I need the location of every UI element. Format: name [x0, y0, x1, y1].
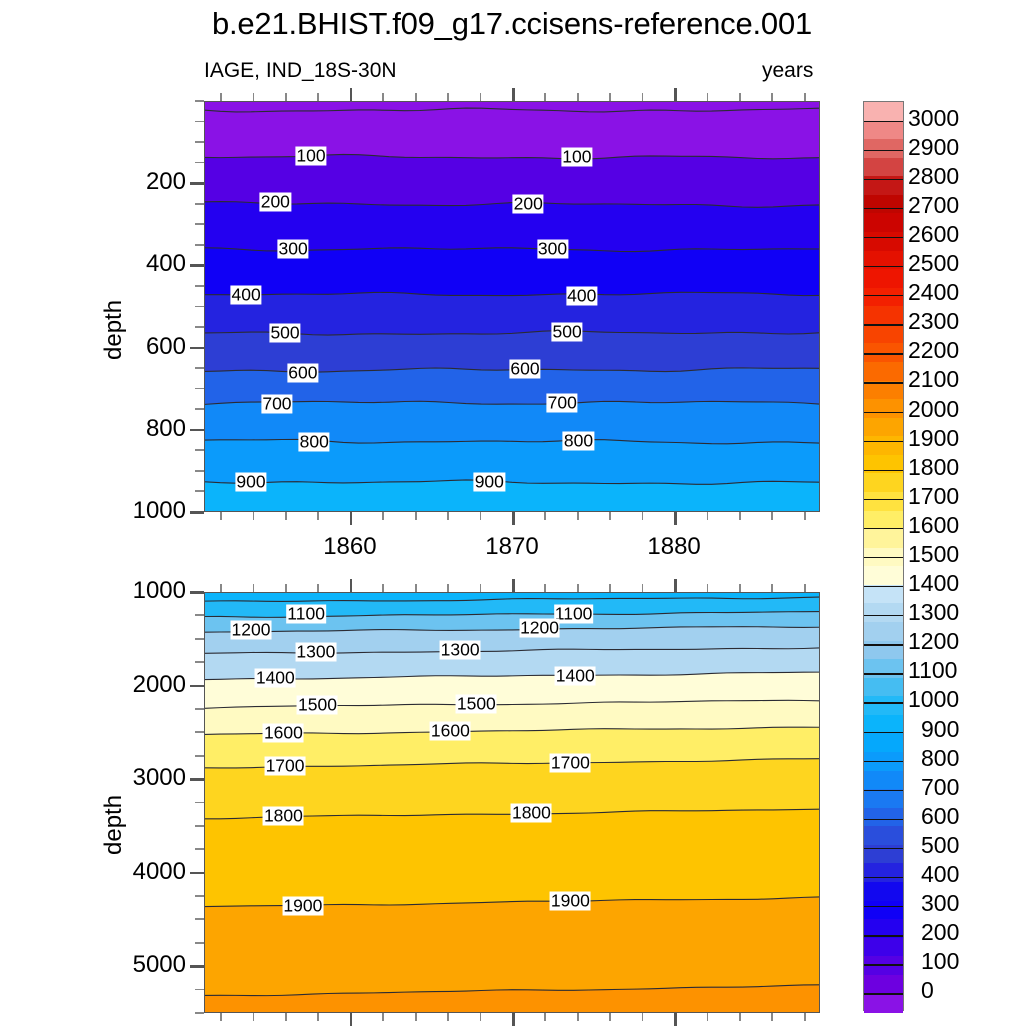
y-axis-major-tick — [190, 347, 204, 350]
x-axis-minor-tick — [642, 584, 644, 592]
colorbar-band — [864, 659, 903, 678]
contour-label: 200 — [260, 192, 291, 211]
x-axis-minor-tick — [480, 93, 482, 101]
y-axis-minor-tick — [195, 388, 204, 390]
x-axis-minor-tick — [577, 1013, 579, 1021]
contour-label: 1400 — [555, 666, 596, 685]
colorbar-band — [864, 436, 903, 455]
colorbar-band — [864, 956, 903, 975]
y-axis-minor-tick — [195, 162, 204, 164]
colorbar-label: 500 — [921, 832, 1024, 859]
x-axis-minor-tick — [707, 512, 709, 520]
contour-label: 1600 — [430, 722, 471, 741]
x-axis-minor-tick — [447, 93, 449, 101]
contour-label: 1600 — [263, 724, 304, 743]
x-axis-minor-tick — [285, 512, 287, 520]
contour-label: 700 — [261, 395, 292, 414]
x-axis-major-tick — [674, 512, 677, 525]
colorbar-label: 1100 — [908, 657, 1018, 684]
colorbar-band — [864, 362, 903, 381]
colorbar-label: 1500 — [908, 541, 1018, 568]
colorbar-tick — [864, 586, 903, 587]
colorbar-band — [864, 269, 903, 288]
x-axis-major-tick — [350, 579, 353, 592]
x-axis-minor-tick — [220, 93, 222, 101]
colorbar-label: 1600 — [908, 512, 1018, 539]
colorbar-label: 200 — [921, 919, 1024, 946]
y-axis-tick-label: 400 — [34, 250, 186, 278]
colorbar-band — [864, 325, 903, 344]
y-axis-minor-tick — [195, 285, 204, 287]
y-axis-major-tick — [190, 685, 204, 688]
x-axis-minor-tick — [220, 584, 222, 592]
x-axis-minor-tick — [285, 584, 287, 592]
contour-label: 1500 — [297, 695, 338, 714]
colorbar-label: 1200 — [908, 628, 1018, 655]
x-axis-minor-tick — [544, 93, 546, 101]
colorbar-label: 300 — [921, 890, 1024, 917]
colorbar-band — [864, 492, 903, 511]
x-axis-minor-tick — [220, 1013, 222, 1021]
x-axis-minor-tick — [415, 1013, 417, 1021]
contour-label: 1300 — [295, 642, 336, 661]
colorbar-band — [864, 473, 903, 492]
colorbar-label: 0 — [921, 977, 1024, 1004]
colorbar-label: 900 — [921, 716, 1024, 743]
y-axis-minor-tick — [195, 244, 204, 246]
x-axis-minor-tick — [480, 1013, 482, 1021]
y-axis-major-tick — [190, 511, 204, 514]
x-axis-minor-tick — [480, 584, 482, 592]
x-axis-minor-tick — [577, 512, 579, 520]
x-axis-minor-tick — [544, 1013, 546, 1021]
y-axis-minor-tick — [195, 989, 204, 991]
x-axis-minor-tick — [544, 584, 546, 592]
colorbar-label: 2000 — [908, 396, 1018, 423]
colorbar-band — [864, 102, 903, 121]
contour-label: 1700 — [550, 753, 591, 772]
x-axis-minor-tick — [577, 584, 579, 592]
y-axis-tick-label: 800 — [34, 415, 186, 443]
colorbar-tick — [864, 150, 903, 151]
contour-label: 400 — [566, 286, 597, 305]
colorbar-tick — [864, 121, 903, 122]
contour-label: 1200 — [519, 619, 560, 638]
colorbar-tick — [864, 964, 903, 965]
colorbar-tick — [864, 993, 903, 994]
x-axis-minor-tick — [544, 512, 546, 520]
colorbar-label: 800 — [921, 745, 1024, 772]
contour-label: 400 — [231, 286, 262, 305]
y-axis-tick-label: 1000 — [34, 497, 186, 525]
colorbar-tick — [864, 353, 903, 354]
contour-label: 1700 — [265, 757, 306, 776]
x-axis-minor-tick — [253, 1013, 255, 1021]
colorbar-band — [864, 678, 903, 697]
x-axis-minor-tick — [285, 93, 287, 101]
x-axis-minor-tick — [447, 584, 449, 592]
y-axis-minor-tick — [195, 708, 204, 710]
colorbar-label: 2300 — [908, 308, 1018, 335]
x-axis-minor-tick — [707, 584, 709, 592]
x-axis-minor-tick — [382, 584, 384, 592]
colorbar-tick — [864, 324, 903, 325]
contour-label: 1900 — [550, 892, 591, 911]
colorbar-band — [864, 696, 903, 715]
colorbar-tick — [864, 208, 903, 209]
colorbar-label: 1400 — [908, 570, 1018, 597]
x-axis-minor-tick — [609, 584, 611, 592]
colorbar-tick — [864, 237, 903, 238]
x-axis-tick-label: 1870 — [452, 533, 572, 561]
y-axis-minor-tick — [195, 1012, 204, 1014]
colorbar-tick — [864, 266, 903, 267]
colorbar-band — [864, 733, 903, 752]
y-axis-major-tick — [190, 965, 204, 968]
colorbar-tick — [864, 528, 903, 529]
y-axis-tick-label: 600 — [34, 333, 186, 361]
x-axis-minor-tick — [642, 1013, 644, 1021]
x-axis-major-tick — [350, 512, 353, 525]
x-axis-major-tick — [350, 88, 353, 101]
x-axis-major-tick — [674, 1013, 677, 1026]
colorbar-label: 400 — [921, 861, 1024, 888]
page-title: b.e21.BHIST.f09_g17.ccisens-reference.00… — [0, 6, 1024, 42]
x-axis-major-tick — [512, 512, 515, 525]
colorbar-label: 2800 — [908, 163, 1018, 190]
x-axis-minor-tick — [317, 584, 319, 592]
x-axis-minor-tick — [382, 93, 384, 101]
colorbar-tick — [864, 790, 903, 791]
y-axis-minor-tick — [195, 121, 204, 123]
x-axis-minor-tick — [739, 512, 741, 520]
colorbar-band — [864, 399, 903, 418]
x-axis-minor-tick — [804, 512, 806, 520]
x-axis-minor-tick — [415, 93, 417, 101]
colorbar-label: 2200 — [908, 337, 1018, 364]
y-axis-tick-label: 4000 — [34, 858, 186, 886]
contour-label: 1800 — [511, 804, 552, 823]
x-axis-minor-tick — [447, 1013, 449, 1021]
contour-label: 300 — [278, 240, 309, 259]
x-axis-minor-tick — [609, 512, 611, 520]
x-axis-minor-tick — [382, 1013, 384, 1021]
contour-label: 700 — [547, 394, 578, 413]
colorbar-band — [864, 213, 903, 232]
x-axis-tick-label: 1880 — [614, 533, 734, 561]
y-axis-tick-label: 200 — [34, 168, 186, 196]
colorbar-label: 600 — [921, 803, 1024, 830]
colorbar-band — [864, 622, 903, 641]
colorbar-label: 2500 — [908, 250, 1018, 277]
y-axis-minor-tick — [195, 825, 204, 827]
colorbar-band — [864, 771, 903, 790]
y-axis-minor-tick — [195, 614, 204, 616]
colorbar-band — [864, 195, 903, 214]
y-axis-major-tick — [190, 872, 204, 875]
y-axis-minor-tick — [195, 470, 204, 472]
colorbar-tick — [864, 761, 903, 762]
y-axis-minor-tick — [195, 306, 204, 308]
x-axis-minor-tick — [415, 512, 417, 520]
x-axis-minor-tick — [220, 512, 222, 520]
colorbar-band — [864, 566, 903, 585]
y-axis-tick-label: 1000 — [34, 577, 186, 605]
contour-label: 500 — [552, 323, 583, 342]
colorbar-tick — [864, 819, 903, 820]
x-axis-minor-tick — [317, 93, 319, 101]
x-axis-minor-tick — [317, 512, 319, 520]
colorbar-label: 2700 — [908, 192, 1018, 219]
colorbar-band — [864, 938, 903, 957]
x-axis-minor-tick — [447, 512, 449, 520]
contour-label: 600 — [287, 363, 318, 382]
colorbar-band — [864, 882, 903, 901]
contour-label: 200 — [513, 194, 544, 213]
colorbar-label: 1900 — [908, 425, 1018, 452]
y-axis-minor-tick — [195, 895, 204, 897]
contour-label: 1200 — [231, 620, 272, 639]
contour-plot-figure: b.e21.BHIST.f09_g17.ccisens-reference.00… — [0, 0, 1024, 1024]
colorbar-band — [864, 585, 903, 604]
contour-label: 900 — [235, 473, 266, 492]
y-axis-minor-tick — [195, 661, 204, 663]
colorbar-tick — [864, 673, 903, 674]
y-axis-minor-tick — [195, 408, 204, 410]
colorbar-tick — [864, 877, 903, 878]
x-axis-minor-tick — [707, 93, 709, 101]
x-axis-minor-tick — [739, 1013, 741, 1021]
y-axis-minor-tick — [195, 918, 204, 920]
colorbar-tick — [864, 412, 903, 413]
y-axis-minor-tick — [195, 848, 204, 850]
y-axis-major-tick — [190, 182, 204, 185]
x-axis-minor-tick — [480, 512, 482, 520]
x-axis-minor-tick — [707, 1013, 709, 1021]
y-axis-minor-tick — [195, 141, 204, 143]
colorbar-tick — [864, 906, 903, 907]
colorbar-tick — [864, 935, 903, 936]
y-axis-major-tick — [190, 778, 204, 781]
colorbar-label: 2100 — [908, 366, 1018, 393]
colorbar-tick — [864, 732, 903, 733]
y-axis-minor-tick — [195, 755, 204, 757]
colorbar-label: 1800 — [908, 454, 1018, 481]
contour-label: 900 — [474, 473, 505, 492]
x-axis-major-tick — [674, 88, 677, 101]
colorbar-band — [864, 901, 903, 920]
y-axis-major-tick — [190, 429, 204, 432]
y-axis-minor-tick — [195, 942, 204, 944]
contour-label: 300 — [537, 240, 568, 259]
colorbar-band — [864, 789, 903, 808]
x-axis-tick-label: 1860 — [290, 533, 410, 561]
y-axis-tick-label: 2000 — [34, 671, 186, 699]
colorbar-band — [864, 121, 903, 140]
colorbar-band — [864, 826, 903, 845]
colorbar-label: 700 — [921, 774, 1024, 801]
x-axis-minor-tick — [253, 512, 255, 520]
y-axis-minor-tick — [195, 490, 204, 492]
lower-panel-y-axis-label: depth — [100, 795, 128, 855]
x-axis-minor-tick — [771, 93, 773, 101]
x-axis-minor-tick — [739, 93, 741, 101]
units-label: years — [762, 59, 813, 83]
x-axis-minor-tick — [804, 1013, 806, 1021]
x-axis-minor-tick — [804, 93, 806, 101]
x-axis-major-tick — [674, 579, 677, 592]
y-axis-minor-tick — [195, 223, 204, 225]
colorbar-band — [864, 306, 903, 325]
contour-label: 1100 — [286, 605, 326, 624]
colorbar-band — [864, 511, 903, 530]
colorbar-band — [864, 975, 903, 994]
colorbar-tick — [864, 848, 903, 849]
contour-label: 100 — [561, 148, 592, 167]
colorbar-band — [864, 808, 903, 827]
y-axis-major-tick — [190, 264, 204, 267]
contour-label: 800 — [563, 431, 594, 450]
x-axis-minor-tick — [382, 512, 384, 520]
variable-region-subtitle: IAGE, IND_18S-30N — [204, 59, 397, 83]
x-axis-minor-tick — [317, 1013, 319, 1021]
x-axis-minor-tick — [253, 93, 255, 101]
contour-label: 600 — [509, 359, 540, 378]
colorbar-tick — [864, 470, 903, 471]
y-axis-minor-tick — [195, 100, 204, 102]
y-axis-tick-label: 5000 — [34, 951, 186, 979]
colorbar-tick — [864, 179, 903, 180]
colorbar[interactable] — [863, 101, 904, 1011]
x-axis-minor-tick — [577, 93, 579, 101]
x-axis-major-tick — [512, 579, 515, 592]
colorbar-band — [864, 529, 903, 548]
colorbar-tick — [864, 557, 903, 558]
contour-label: 500 — [269, 323, 300, 342]
x-axis-minor-tick — [771, 584, 773, 592]
x-axis-minor-tick — [804, 584, 806, 592]
x-axis-major-tick — [512, 1013, 515, 1026]
contour-label: 1300 — [440, 640, 481, 659]
colorbar-band — [864, 863, 903, 882]
colorbar-label: 2400 — [908, 279, 1018, 306]
x-axis-minor-tick — [642, 93, 644, 101]
colorbar-band — [864, 455, 903, 474]
colorbar-tick — [864, 295, 903, 296]
x-axis-minor-tick — [285, 1013, 287, 1021]
x-axis-minor-tick — [253, 584, 255, 592]
contour-label: 1500 — [456, 694, 497, 713]
x-axis-minor-tick — [609, 93, 611, 101]
colorbar-tick — [864, 702, 903, 703]
colorbar-label: 3000 — [908, 105, 1018, 132]
colorbar-label: 1300 — [908, 599, 1018, 626]
y-axis-minor-tick — [195, 449, 204, 451]
colorbar-label: 2600 — [908, 221, 1018, 248]
colorbar-tick — [864, 644, 903, 645]
x-axis-minor-tick — [609, 1013, 611, 1021]
colorbar-band — [864, 993, 903, 1012]
x-axis-major-tick — [350, 1013, 353, 1026]
y-axis-minor-tick — [195, 367, 204, 369]
colorbar-tick — [864, 499, 903, 500]
colorbar-label: 2900 — [908, 134, 1018, 161]
colorbar-label: 1000 — [908, 686, 1018, 713]
x-axis-major-tick — [512, 88, 515, 101]
y-axis-minor-tick — [195, 802, 204, 804]
y-axis-minor-tick — [195, 203, 204, 205]
x-axis-minor-tick — [739, 584, 741, 592]
colorbar-tick — [864, 441, 903, 442]
contour-label: 800 — [299, 433, 330, 452]
colorbar-band — [864, 232, 903, 251]
x-axis-minor-tick — [642, 512, 644, 520]
y-axis-tick-label: 3000 — [34, 764, 186, 792]
x-axis-minor-tick — [771, 512, 773, 520]
contour-label: 1800 — [263, 807, 304, 826]
x-axis-minor-tick — [771, 1013, 773, 1021]
colorbar-band — [864, 158, 903, 177]
y-axis-minor-tick — [195, 638, 204, 640]
colorbar-label: 1700 — [908, 483, 1018, 510]
colorbar-band — [864, 418, 903, 437]
contour-label: 1900 — [282, 896, 323, 915]
y-axis-minor-tick — [195, 731, 204, 733]
contour-label: 1400 — [255, 668, 296, 687]
colorbar-label: 100 — [921, 948, 1024, 975]
colorbar-band — [864, 288, 903, 307]
x-axis-minor-tick — [415, 584, 417, 592]
colorbar-tick — [864, 382, 903, 383]
y-axis-major-tick — [190, 591, 204, 594]
colorbar-tick — [864, 615, 903, 616]
y-axis-minor-tick — [195, 326, 204, 328]
contour-label: 100 — [295, 146, 326, 165]
colorbar-band — [864, 603, 903, 622]
